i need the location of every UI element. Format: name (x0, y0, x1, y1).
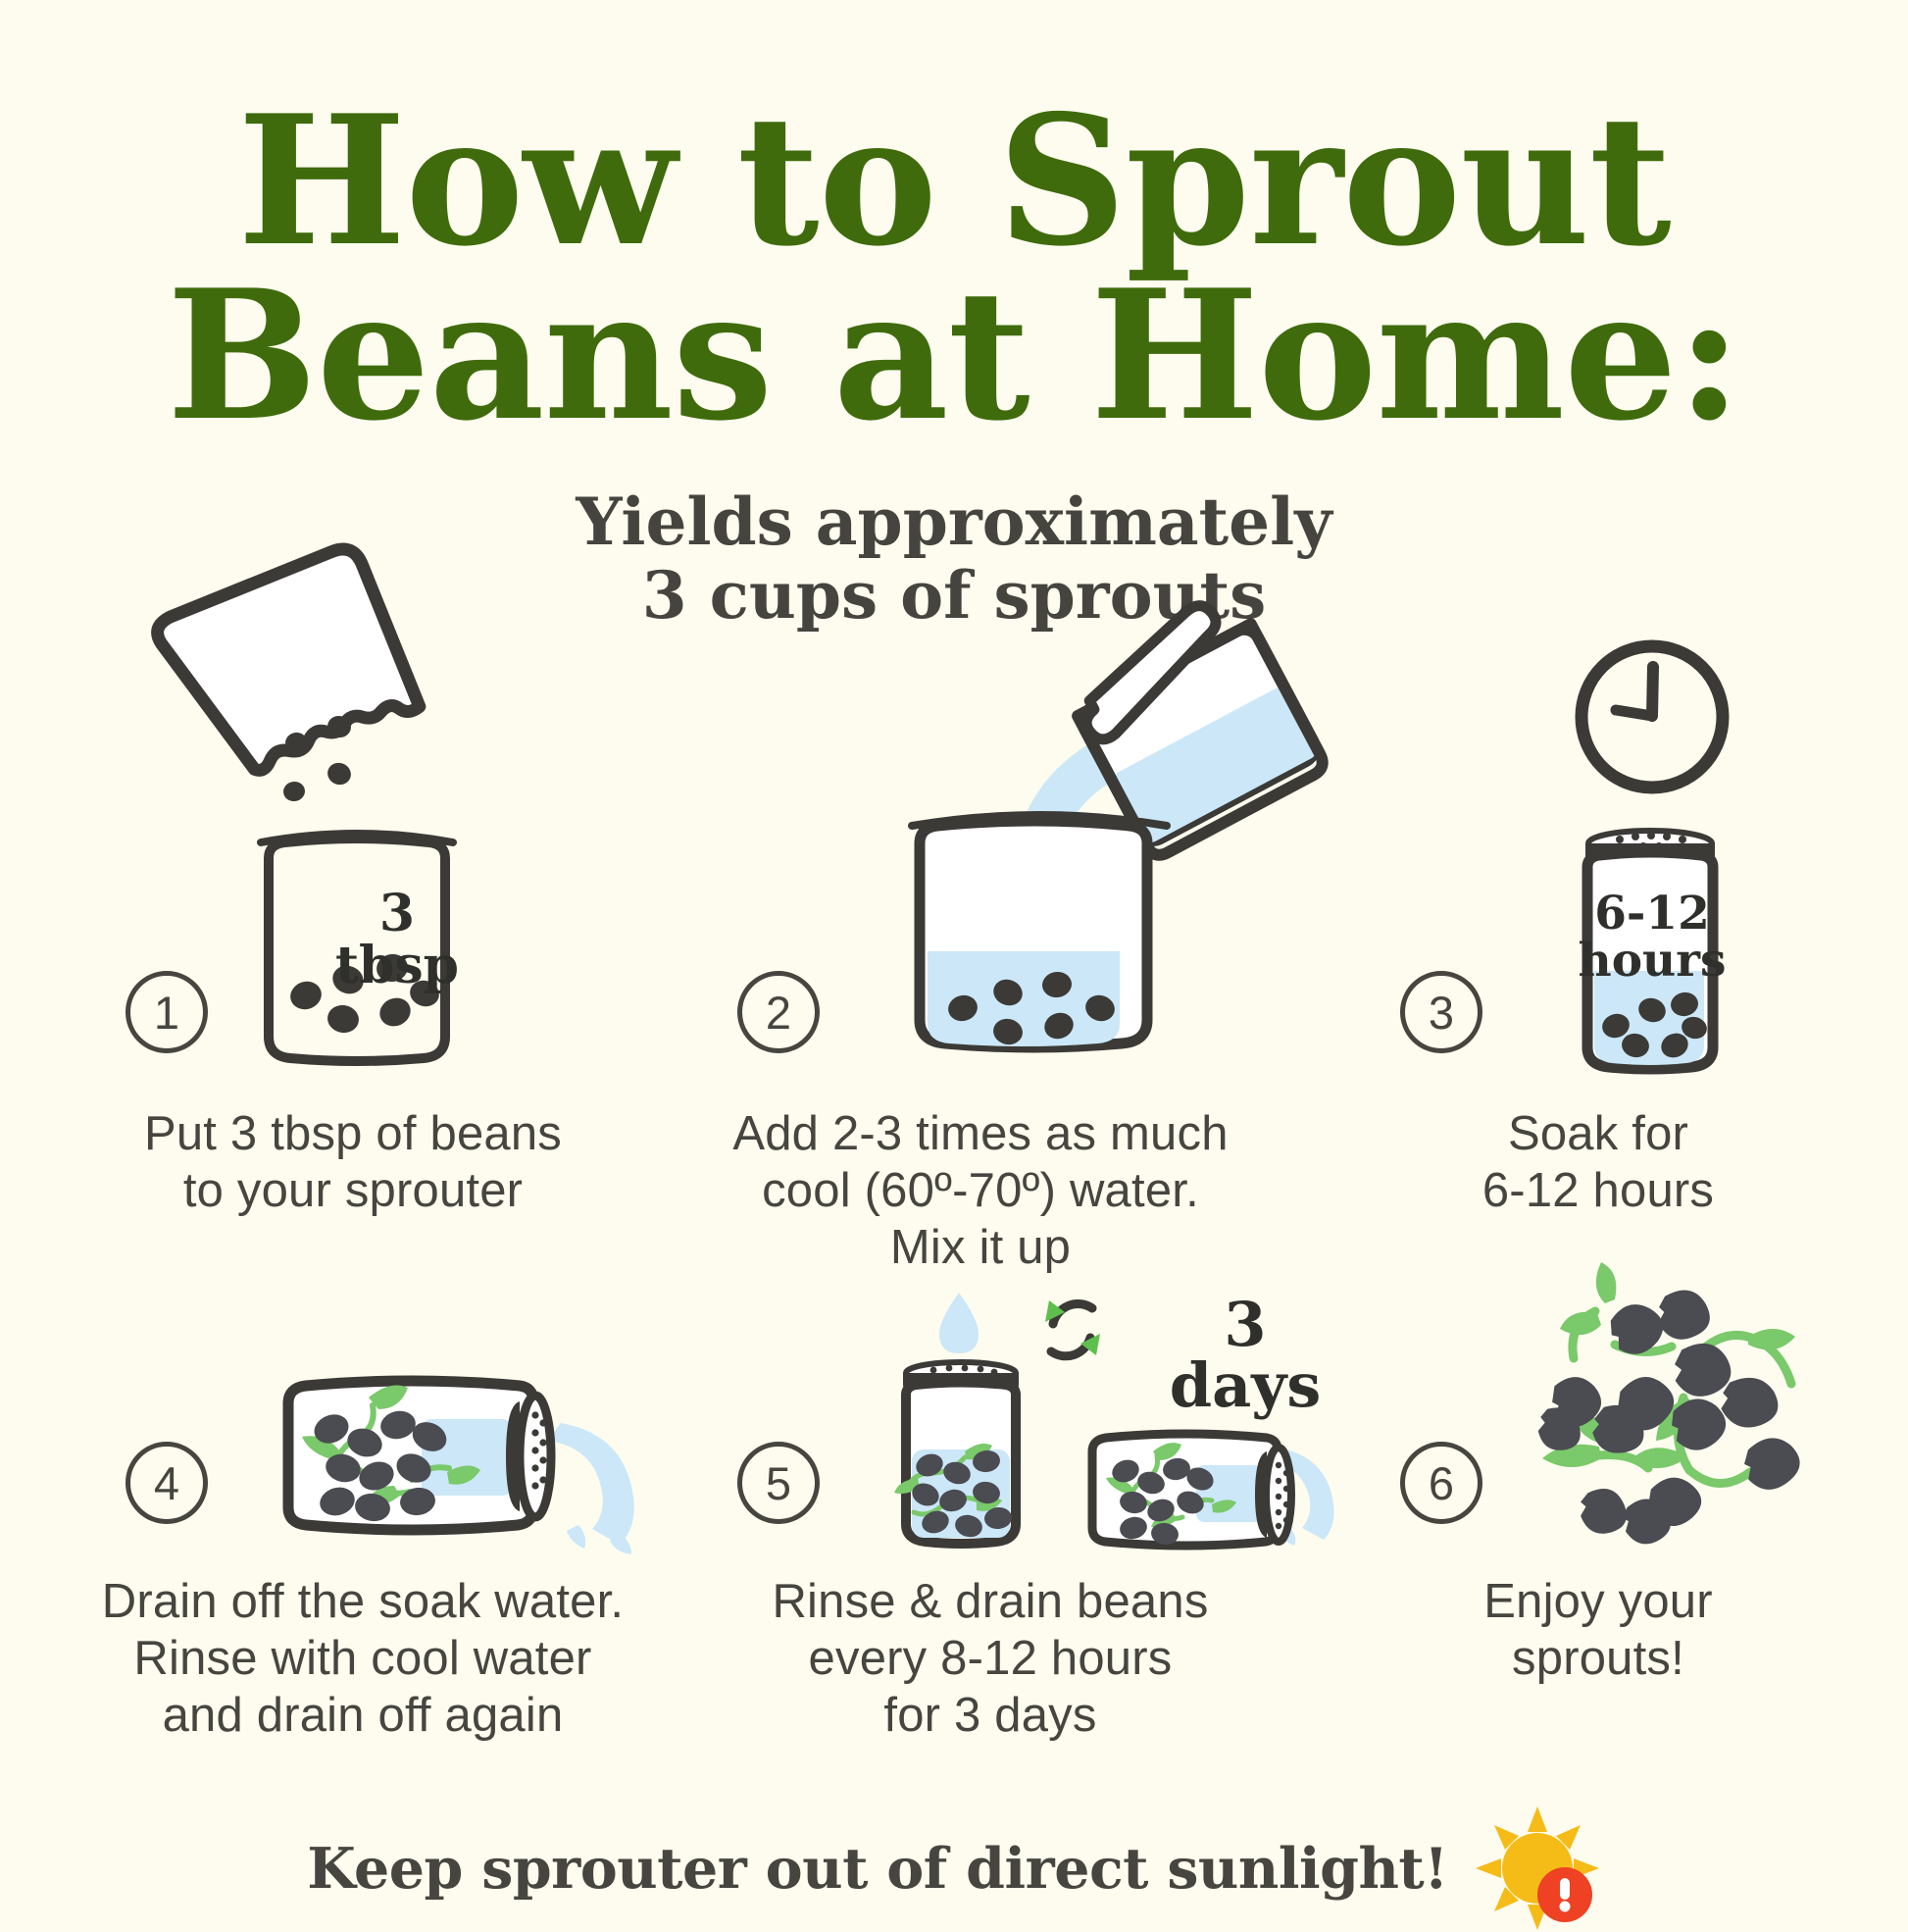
step-number-1: 1 (126, 971, 208, 1053)
rinse-and-drain-jars-icon: 3 days (882, 1275, 1333, 1569)
pitcher-pouring-water-into-jar-icon (882, 647, 1314, 1069)
step-number-2: 2 (737, 971, 820, 1053)
step-caption-1: Put 3 tbsp of beans to your sprouter (39, 1106, 667, 1220)
step-number-6: 6 (1400, 1442, 1482, 1524)
clock-and-soaking-jar-icon: 6-12 hours (1510, 626, 1902, 1096)
jar-label-soak-time: 6-12 hours (1564, 890, 1740, 985)
tilted-jar-draining-icon (275, 1358, 745, 1574)
steps-grid: 3 tbsp 1 Put 3 tbsp of beans to your spr… (0, 0, 1908, 1908)
sprouted-beans-cluster-icon (1505, 1260, 1838, 1574)
footer-note: Keep sprouter out of direct sunlight! (0, 1805, 1908, 1932)
rinse-days-label: 3 days (1128, 1295, 1363, 1416)
sun-warning-icon (1474, 1805, 1601, 1932)
step-caption-5: Rinse & drain beans every 8-12 hours for… (667, 1574, 1314, 1744)
step-caption-6: Enjoy your sprouts! (1324, 1574, 1873, 1688)
footer-text: Keep sprouter out of direct sunlight! (307, 1836, 1448, 1902)
step-number-5: 5 (737, 1442, 820, 1524)
step-caption-2: Add 2-3 times as much cool (60º-70º) wat… (647, 1106, 1314, 1276)
bean-bag-pouring-into-jar-icon: 3 tbsp (147, 564, 559, 1054)
step-caption-4: Drain off the soak water. Rinse with coo… (10, 1574, 716, 1744)
step-number-4: 4 (126, 1442, 208, 1524)
step-caption-3: Soak for 6-12 hours (1314, 1106, 1883, 1220)
infographic-page: How to Sprout Beans at Home: Yields appr… (0, 0, 1908, 1908)
jar-label-amount: 3 tbsp (324, 888, 471, 991)
step-number-3: 3 (1400, 971, 1482, 1053)
